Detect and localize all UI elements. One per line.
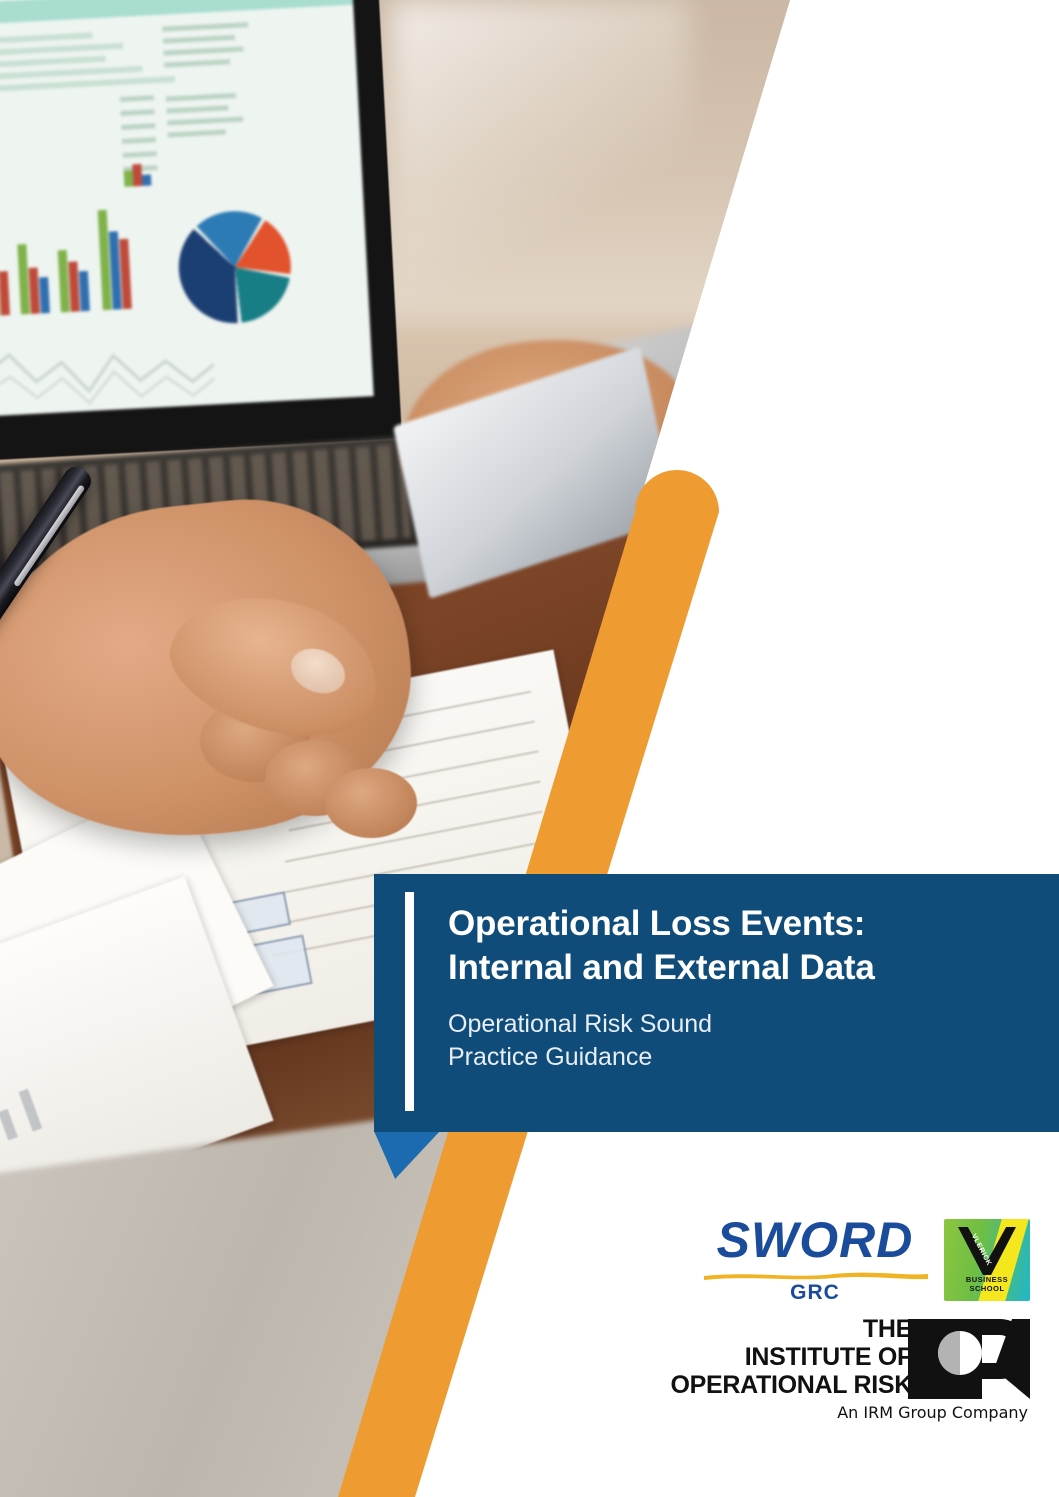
line-chart: [0, 315, 216, 417]
page-title: Operational Loss Events: Internal and Ex…: [448, 902, 1039, 990]
title-text-group: Operational Loss Events: Internal and Ex…: [448, 902, 1039, 1074]
ior-monogram-icon: [908, 1315, 1030, 1403]
ior-logo: THE INSTITUTE OF OPERATIONAL RISK An IRM…: [600, 1315, 1030, 1423]
bar-chart: [0, 197, 161, 316]
laptop-monitor: [0, 0, 402, 461]
monitor-screen: [0, 0, 374, 416]
sword-tagline: GRC: [696, 1281, 934, 1305]
title-block: Operational Loss Events: Internal and Ex…: [374, 874, 1059, 1132]
pie-chart: [176, 208, 294, 326]
sword-wordmark: SWORD: [696, 1215, 934, 1265]
title-accent-bar: [405, 892, 414, 1111]
mini-chart: [123, 159, 158, 187]
ior-strapline: An IRM Group Company: [837, 1403, 1028, 1422]
cover-page: Operational Loss Events: Internal and Ex…: [0, 0, 1059, 1497]
ior-name: THE INSTITUTE OF OPERATIONAL RISK: [670, 1315, 912, 1399]
sword-swoosh: [704, 1271, 928, 1280]
window-light: [390, 0, 690, 300]
sword-wordmark-group: SWORD GRC: [696, 1205, 934, 1305]
vlerick-logo: VLERICK BUSINESS SCHOOL: [944, 1219, 1030, 1301]
spreadsheet-header-band: [0, 0, 353, 25]
page-subtitle: Operational Risk Sound Practice Guidance: [448, 1008, 1039, 1074]
sword-logo: SWORD GRC VLERICK BUSINESS SCHOOL: [600, 1205, 1030, 1305]
knuckle: [325, 768, 417, 838]
logo-group: SWORD GRC VLERICK BUSINESS SCHOOL THE IN…: [600, 1205, 1030, 1423]
vlerick-school-text: BUSINESS SCHOOL: [944, 1275, 1030, 1294]
